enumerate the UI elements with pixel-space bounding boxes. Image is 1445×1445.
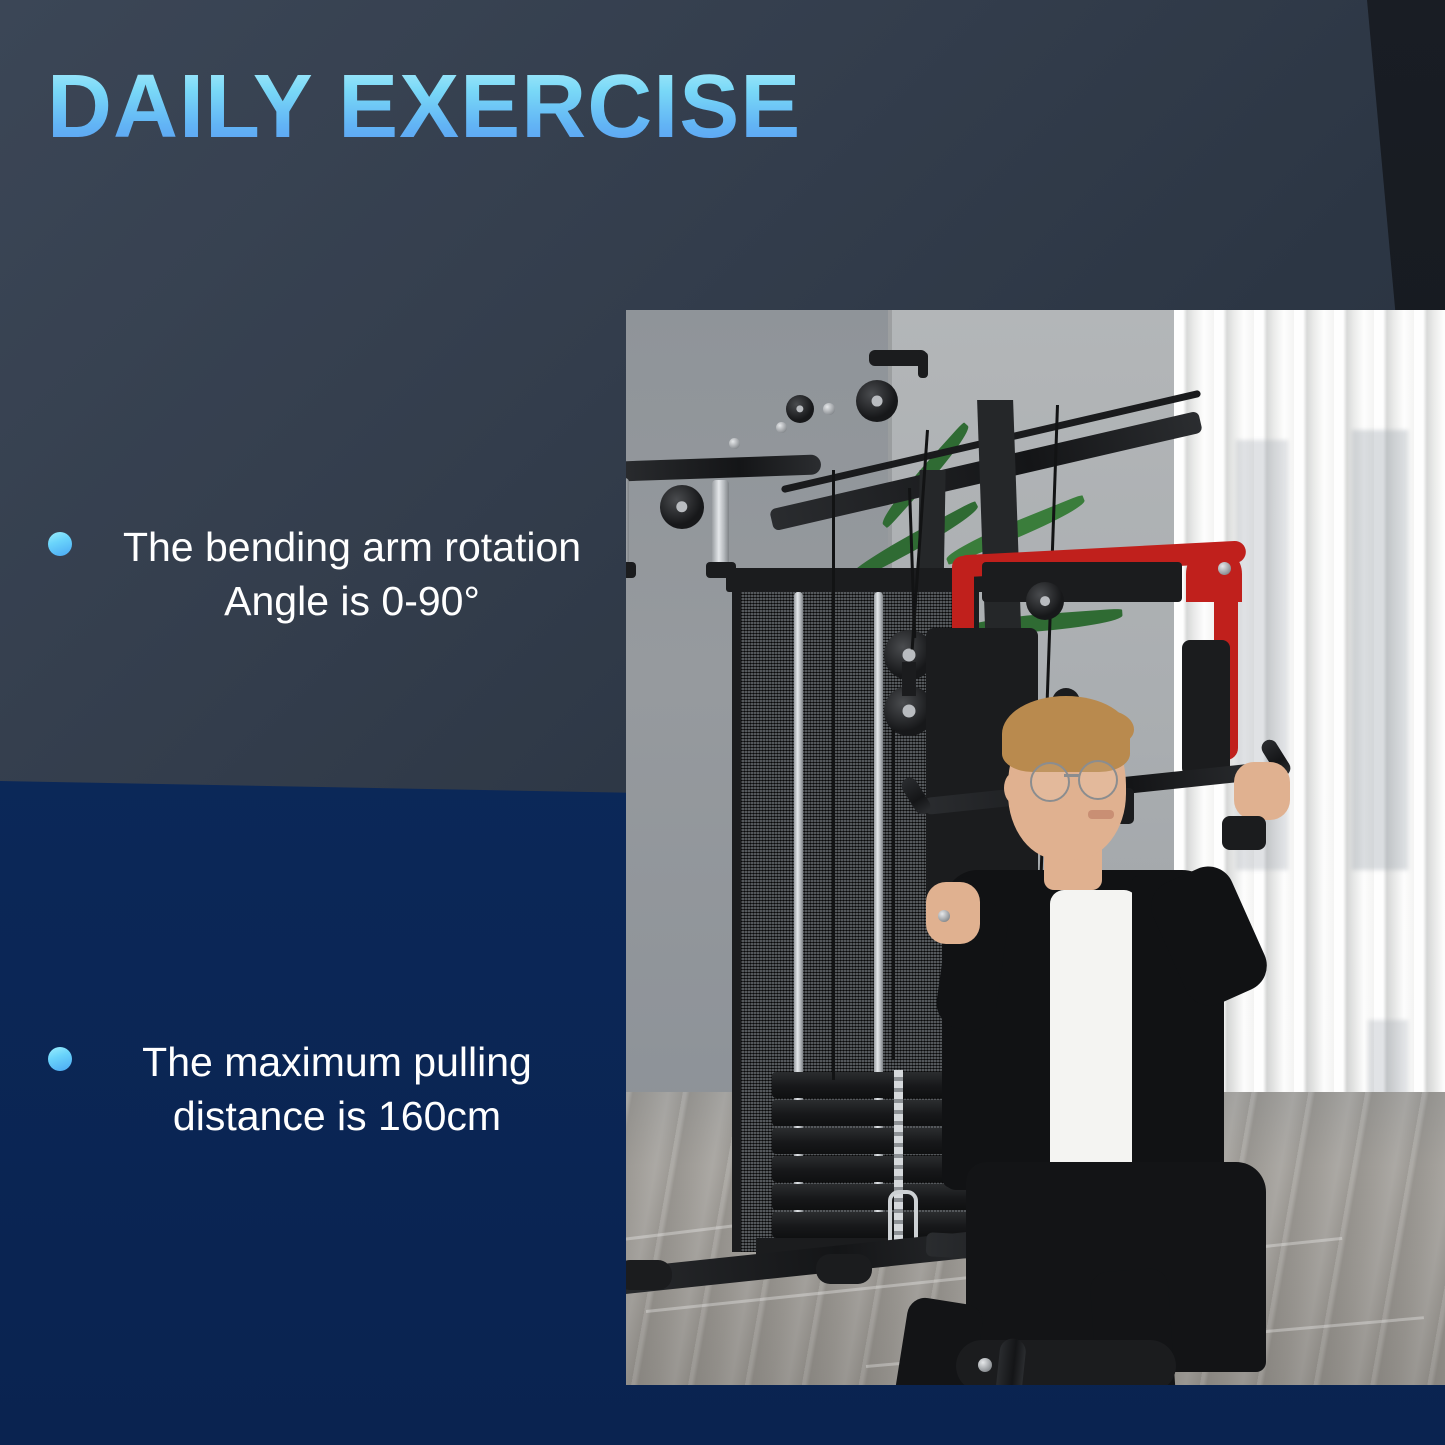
bolt (978, 1358, 992, 1372)
top-hook-tip (918, 352, 928, 378)
pulley-top-right (856, 380, 898, 422)
window-glow (1352, 430, 1408, 870)
base-foot (816, 1254, 872, 1284)
person-tshirt (1050, 890, 1138, 1180)
red-arm-elbow (1186, 546, 1242, 602)
pulley-bracket (902, 662, 916, 696)
glasses-right-lens (1078, 760, 1118, 800)
product-photo (626, 310, 1445, 1385)
pulley-red-arm (1026, 582, 1064, 620)
mesh-frame-left (732, 592, 741, 1252)
slide-canvas: DAILY EXERCISE The bending arm rotation … (0, 0, 1445, 1445)
bullet-text-rotation-angle: The bending arm rotation Angle is 0-90° (72, 520, 618, 628)
bolt (1218, 562, 1231, 575)
red-arm-bracket (982, 562, 1182, 602)
wristwatch (1222, 816, 1266, 850)
bullet-text-pulling-distance: The maximum pulling distance is 160cm (72, 1035, 588, 1143)
cable (892, 730, 895, 1060)
pulley-upper-left (660, 485, 704, 529)
bolt (938, 910, 950, 922)
chrome-post (626, 478, 629, 570)
person-ear (1004, 772, 1026, 804)
bullet-item-rotation-angle: The bending arm rotation Angle is 0-90° (48, 520, 618, 628)
person-left-hand (926, 882, 980, 944)
bullet-item-pulling-distance: The maximum pulling distance is 160cm (48, 1035, 588, 1143)
pulley-top-mid (786, 395, 814, 423)
bolt (729, 438, 740, 449)
shoulder-pad-right (1182, 640, 1230, 776)
person-hair-fringe (1080, 710, 1134, 746)
chrome-post (712, 480, 729, 572)
page-title: DAILY EXERCISE (47, 62, 801, 152)
glasses-bridge (1064, 774, 1080, 777)
base-foot (626, 1260, 672, 1290)
bolt (776, 422, 787, 433)
weight-plate (772, 1184, 972, 1210)
person-right-hand (1234, 762, 1290, 820)
glasses-left-lens (1030, 762, 1070, 802)
bolt (823, 403, 835, 415)
cable (832, 470, 835, 1080)
post-base (626, 562, 636, 578)
bullet-dot-icon (48, 1047, 72, 1071)
bullet-dot-icon (48, 532, 72, 556)
person-mouth-area (1088, 810, 1114, 819)
